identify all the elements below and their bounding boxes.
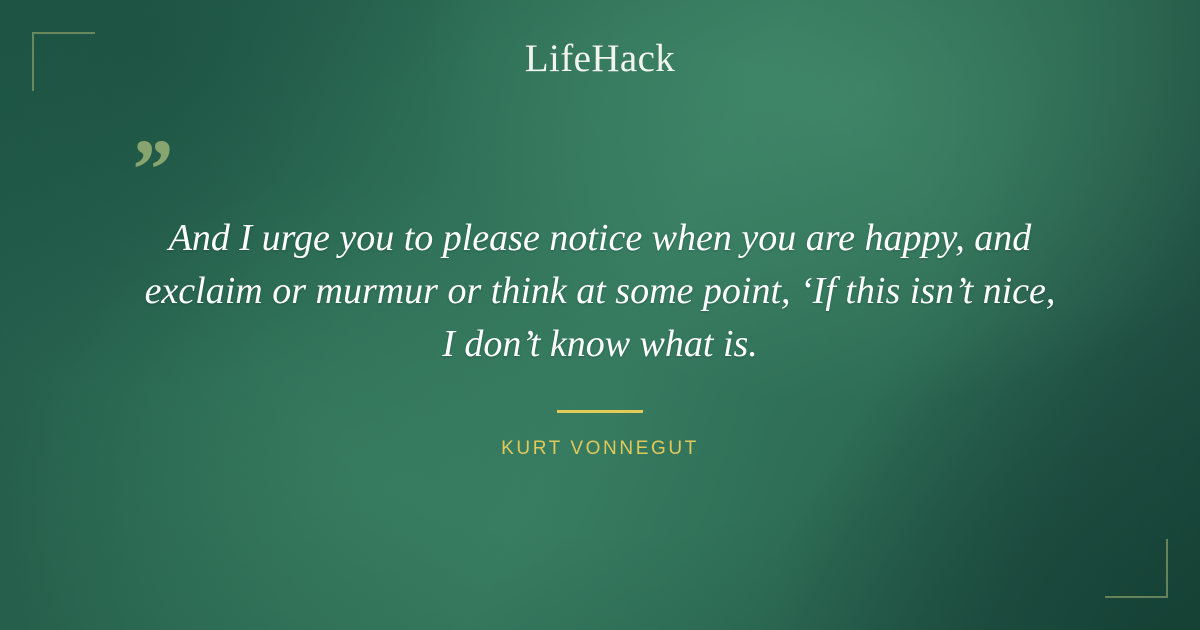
quotation-mark-icon: ”: [128, 126, 171, 212]
attribution-divider: [557, 410, 643, 413]
quote-line: And I urge you to please notice when you…: [60, 212, 1140, 265]
quote-text: And I urge you to please notice when you…: [60, 212, 1140, 371]
author-name: KURT VONNEGUT: [0, 438, 1200, 460]
quote-line: I don’t know what is.: [60, 318, 1140, 371]
quote-card: LifeHack ” And I urge you to please noti…: [0, 0, 1200, 630]
quote-line: exclaim or murmur or think at some point…: [60, 265, 1140, 318]
brand-logo: LifeHack: [0, 39, 1200, 78]
